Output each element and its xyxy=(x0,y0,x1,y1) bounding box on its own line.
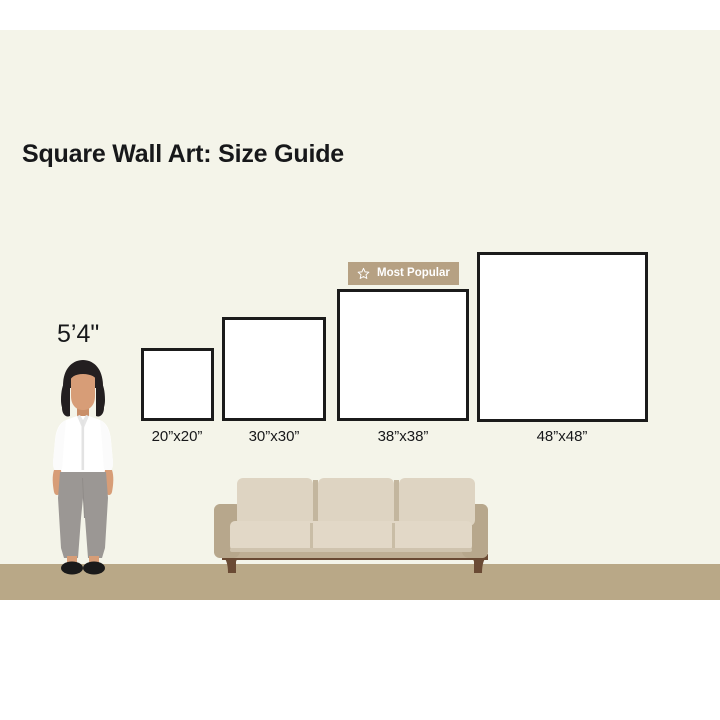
page-title: Square Wall Art: Size Guide xyxy=(22,140,344,169)
sofa-figure xyxy=(192,468,510,582)
art-frame-48x48[interactable] xyxy=(477,252,648,422)
art-frame-label-38x38: 38”x38” xyxy=(378,428,429,445)
person-height-label: 5’4" xyxy=(57,320,99,349)
person-figure xyxy=(34,358,132,578)
art-frame-label-20x20: 20”x20” xyxy=(152,428,203,445)
three-seat-sofa-icon xyxy=(192,468,510,582)
star-outline-icon xyxy=(357,267,370,280)
art-frame-label-48x48: 48”x48” xyxy=(537,428,588,445)
art-frame-20x20[interactable] xyxy=(141,348,214,421)
woman-silhouette-icon xyxy=(34,358,132,578)
art-frame-30x30[interactable] xyxy=(222,317,326,421)
art-frame-label-30x30: 30”x30” xyxy=(249,428,300,445)
art-frame-38x38[interactable] xyxy=(337,289,469,421)
most-popular-badge-label: Most Popular xyxy=(377,267,450,279)
most-popular-badge: Most Popular xyxy=(348,262,459,285)
size-guide-illustration: Square Wall Art: Size Guide 5’4" xyxy=(0,0,720,720)
